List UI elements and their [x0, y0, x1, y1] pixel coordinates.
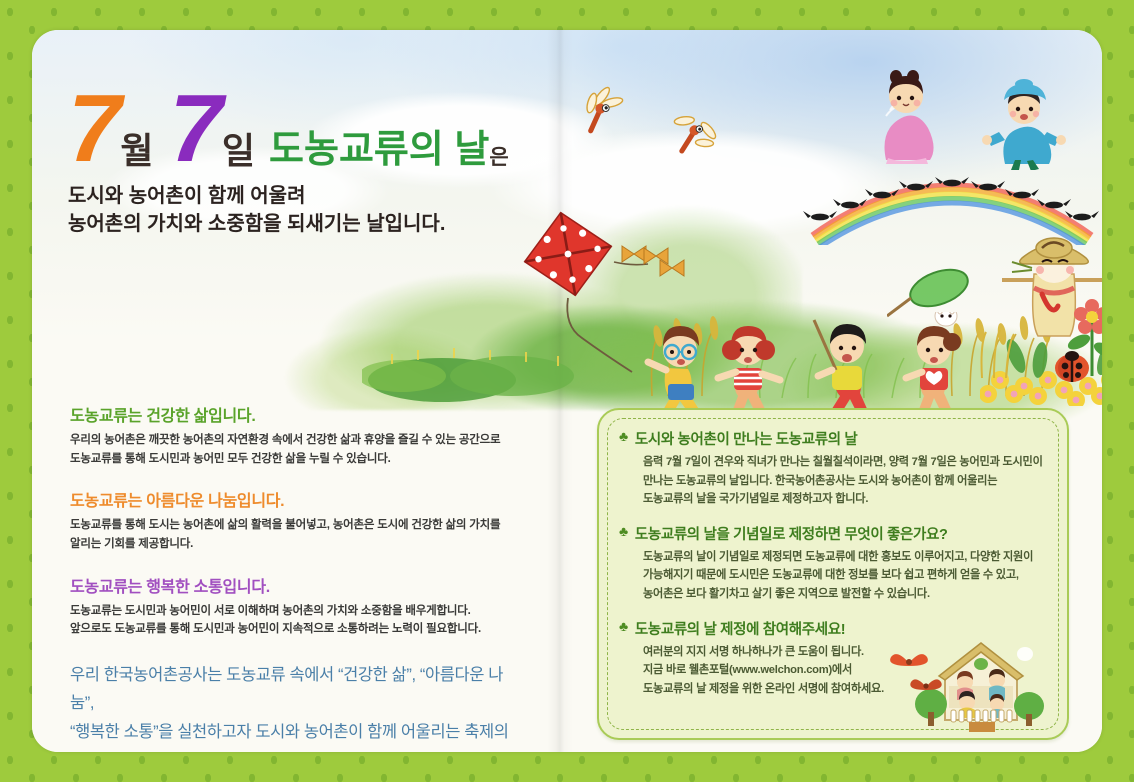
- right-heading-text: 도농교류의 날 제정에 참여해주세요!: [635, 618, 845, 639]
- body-line-2: 만나는 도농교류의 날입니다. 한국농어촌공사는 도시와 농어촌이 함께 어울리…: [643, 475, 997, 487]
- day-unit-label: 일: [222, 122, 255, 174]
- body-line-3: 도농교류의 날 제정을 위한 온라인 서명에 참여하세요.: [643, 683, 884, 695]
- jiknyeo-character-illustration: [860, 68, 952, 164]
- right-section-heading: ♣ 도농교류의 날을 기념일로 제정하면 무엇이 좋은가요?: [619, 523, 1045, 544]
- left-section-heading: 도농교류는 아름다운 나눔입니다.: [70, 487, 525, 511]
- clover-bullet-icon: ♣: [619, 523, 628, 541]
- right-section-body: 여러분의 지지 서명 하나하나가 큰 도움이 됩니다. 지금 바로 웰촌포털(w…: [643, 643, 1045, 699]
- left-section-body: 우리의 농어촌은 깨끗한 농어촌의 자연환경 속에서 건강한 삶과 휴양을 즐길…: [70, 431, 525, 468]
- body-line-1: 여러분의 지지 서명 하나하나가 큰 도움이 됩니다.: [643, 646, 864, 658]
- scarecrow-illustration: [980, 228, 1102, 406]
- left-section-sharing: 도농교류는 아름다운 나눔입니다. 도농교류를 통해 도시는 농어촌에 삶의 활…: [70, 487, 525, 553]
- right-section-body: 음력 7월 7일이 견우와 직녀가 만나는 칠월칠석이라면, 양력 7월 7일은…: [643, 453, 1045, 509]
- child-with-rabbit: [906, 312, 961, 414]
- right-section-heading: ♣ 도농교류의 날 제정에 참여해주세요!: [619, 618, 1045, 639]
- right-section-benefits: ♣ 도농교류의 날을 기념일로 제정하면 무엇이 좋은가요? 도농교류의 날이 …: [619, 523, 1045, 604]
- dragonfly-icon: [664, 108, 722, 160]
- subtitle-line-2: 농어촌의 가치와 소중함을 되새기는 날입니다.: [68, 210, 509, 238]
- child-with-net: [814, 320, 868, 415]
- child-with-glasses: [648, 326, 700, 415]
- body-line-1: 우리의 농어촌은 깨끗한 농어촌의 자연환경 속에서 건강한 삶과 휴양을 즐길…: [70, 434, 500, 446]
- month-number: 7: [68, 88, 119, 170]
- closing-line-1: 우리 한국농어촌공사는 도농교류 속에서 “건강한 삶”, “아름다운 나눔”,: [70, 661, 525, 718]
- left-section-heading: 도농교류는 건강한 삶입니다.: [70, 402, 525, 426]
- subtitle-line-1: 도시와 농어촌이 함께 어울려: [68, 182, 509, 210]
- right-section-participate: ♣ 도농교류의 날 제정에 참여해주세요! 여러분의 지지 서명 하나하나가 큰…: [619, 618, 1045, 699]
- left-section-heading: 도농교류는 행복한 소통입니다.: [70, 573, 525, 597]
- right-section-meeting: ♣ 도시와 농어촌이 만나는 도농교류의 날 음력 7월 7일이 견우와 직녀가…: [619, 428, 1045, 509]
- poster-page: 7 월 7 일 도농교류의 날 은 도시와 농어촌이 함께 어울려 농어촌의 가…: [0, 0, 1134, 782]
- right-heading-text: 도농교류의 날을 기념일로 제정하면 무엇이 좋은가요?: [635, 523, 948, 544]
- child-striped-shirt: [718, 326, 780, 414]
- body-line-2: 도농교류를 통해 도시민과 농어민 모두 건강한 삶을 누릴 수 있습니다.: [70, 453, 391, 465]
- body-line-3: 도농교류의 날을 국가기념일로 제정하고자 합니다.: [643, 493, 868, 505]
- headline-subtitle: 도시와 농어촌이 함께 어울려 농어촌의 가치와 소중함을 되새기는 날입니다.: [68, 182, 509, 239]
- left-section-health: 도농교류는 건강한 삶입니다. 우리의 농어촌은 깨끗한 농어촌의 자연환경 속…: [70, 402, 525, 468]
- closing-line-2: “행복한 소통”을 실천하고자 도시와 농어촌이 함께 어울리는 축제의 날을: [70, 718, 525, 752]
- clover-bullet-icon: ♣: [619, 428, 628, 446]
- left-section-body: 도농교류를 통해 도시는 농어촌에 삶의 활력을 불어넣고, 농어촌은 도시에 …: [70, 516, 525, 553]
- body-line-2: 앞으로도 도농교류를 통해 도시민과 농어민이 지속적으로 소통하려는 노력이 …: [70, 623, 481, 635]
- body-line-2: 가능해지기 때문에 도시민은 도농교류에 대한 정보를 보다 쉽고 편하게 얻을…: [643, 569, 1019, 581]
- body-line-1: 도농교류의 날이 기념일로 제정되면 도농교류에 대한 홍보도 이루어지고, 다…: [643, 551, 1033, 563]
- gyeonu-character-illustration: [977, 78, 1071, 170]
- ladybug-icon: [1055, 351, 1089, 382]
- body-line-1: 도농교류는 도시민과 농어민이 서로 이해하며 농어촌의 가치와 소중함을 배우…: [70, 605, 471, 617]
- left-section-communication: 도농교류는 행복한 소통입니다. 도농교류는 도시민과 농어민이 서로 이해하며…: [70, 573, 525, 639]
- butterfly-net-illustration: [887, 262, 987, 322]
- clover-bullet-icon: ♣: [619, 618, 628, 636]
- left-text-column: 도농교류는 건강한 삶입니다. 우리의 농어촌은 깨끗한 농어촌의 자연환경 속…: [70, 402, 525, 752]
- headline-block: 7 월 7 일 도농교류의 날 은 도시와 농어촌이 함께 어울려 농어촌의 가…: [68, 88, 509, 239]
- day-number: 7: [170, 88, 221, 170]
- body-line-2: 지금 바로 웰촌포털(www.welchon.com)에서: [643, 664, 852, 676]
- right-heading-text: 도시와 농어촌이 만나는 도농교류의 날: [635, 428, 858, 449]
- right-info-box: ♣ 도시와 농어촌이 만나는 도농교류의 날 음력 7월 7일이 견우와 직녀가…: [597, 408, 1069, 740]
- body-line-2: 알리는 기회를 제공합니다.: [70, 538, 193, 550]
- right-box-content: ♣ 도시와 농어촌이 만나는 도농교류의 날 음력 7월 7일이 견우와 직녀가…: [599, 410, 1067, 708]
- body-line-1: 음력 7월 7일이 견우와 직녀가 만나는 칠월칠석이라면, 양력 7월 7일은…: [643, 456, 1043, 468]
- month-unit-label: 월: [120, 122, 153, 174]
- closing-paragraph: 우리 한국농어촌공사는 도농교류 속에서 “건강한 삶”, “아름다운 나눔”,…: [70, 661, 525, 752]
- page-title-suffix: 은: [489, 141, 508, 171]
- page-title: 도농교류의 날: [269, 118, 489, 173]
- headline-date-row: 7 월 7 일 도농교류의 날 은: [68, 88, 509, 172]
- right-section-body: 도농교류의 날이 기념일로 제정되면 도농교류에 대한 홍보도 이루어지고, 다…: [643, 548, 1045, 604]
- bush-watercolor-illustration: [362, 306, 602, 402]
- right-section-heading: ♣ 도시와 농어촌이 만나는 도농교류의 날: [619, 428, 1045, 449]
- brochure-page: 7 월 7 일 도농교류의 날 은 도시와 농어촌이 함께 어울려 농어촌의 가…: [32, 30, 1102, 752]
- body-line-3: 농어촌은 보다 활기차고 살기 좋은 지역으로 발전할 수 있습니다.: [643, 588, 930, 600]
- body-line-1: 도농교류를 통해 도시는 농어촌에 삶의 활력을 불어넣고, 농어촌은 도시에 …: [70, 519, 500, 531]
- dragonfly-icon: [570, 85, 630, 135]
- left-section-body: 도농교류는 도시민과 농어민이 서로 이해하며 농어촌의 가치와 소중함을 배우…: [70, 602, 525, 639]
